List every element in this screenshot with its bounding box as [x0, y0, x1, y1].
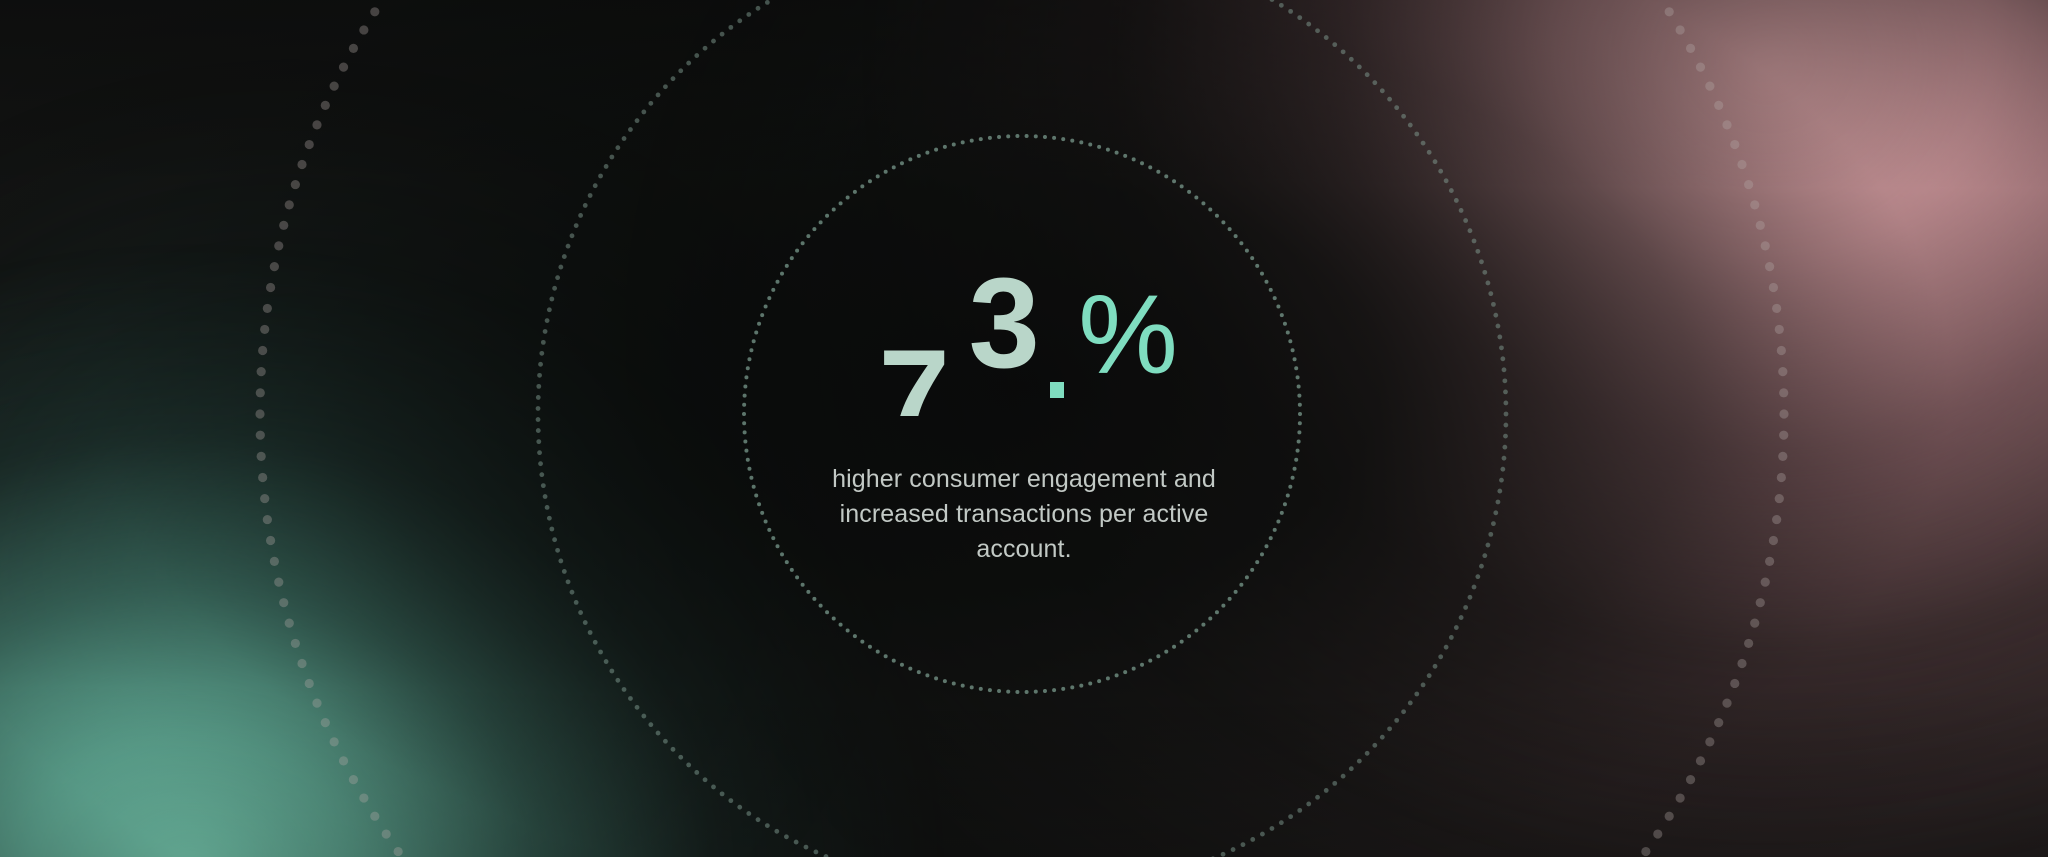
stat-caption: higher consumer engagement and increased…: [824, 462, 1224, 567]
hero-stage: 7 8 9 3 4 5 % higher consumer engagement…: [0, 0, 2048, 857]
stat-counter: 7 8 9 3 4 5 %: [764, 276, 1284, 456]
digit-column-2: 3 4 5: [960, 276, 1046, 416]
digit-strip-2: 3 4 5: [960, 276, 1046, 416]
percent-symbol: %: [1078, 276, 1178, 394]
digit-strip-1: 7 8 9: [870, 326, 956, 416]
digit-current-2: 4: [960, 394, 1046, 416]
decimal-point-icon: [1050, 382, 1064, 398]
hero-content: 7 8 9 3 4 5 % higher consumer engagement…: [664, 0, 1384, 857]
digit-prev-2: 3: [960, 276, 1046, 394]
digit-column-1: 7 8 9: [870, 276, 956, 416]
digit-prev-1: 7: [870, 326, 956, 416]
odometer: 7 8 9 3 4 5 %: [870, 276, 1178, 416]
